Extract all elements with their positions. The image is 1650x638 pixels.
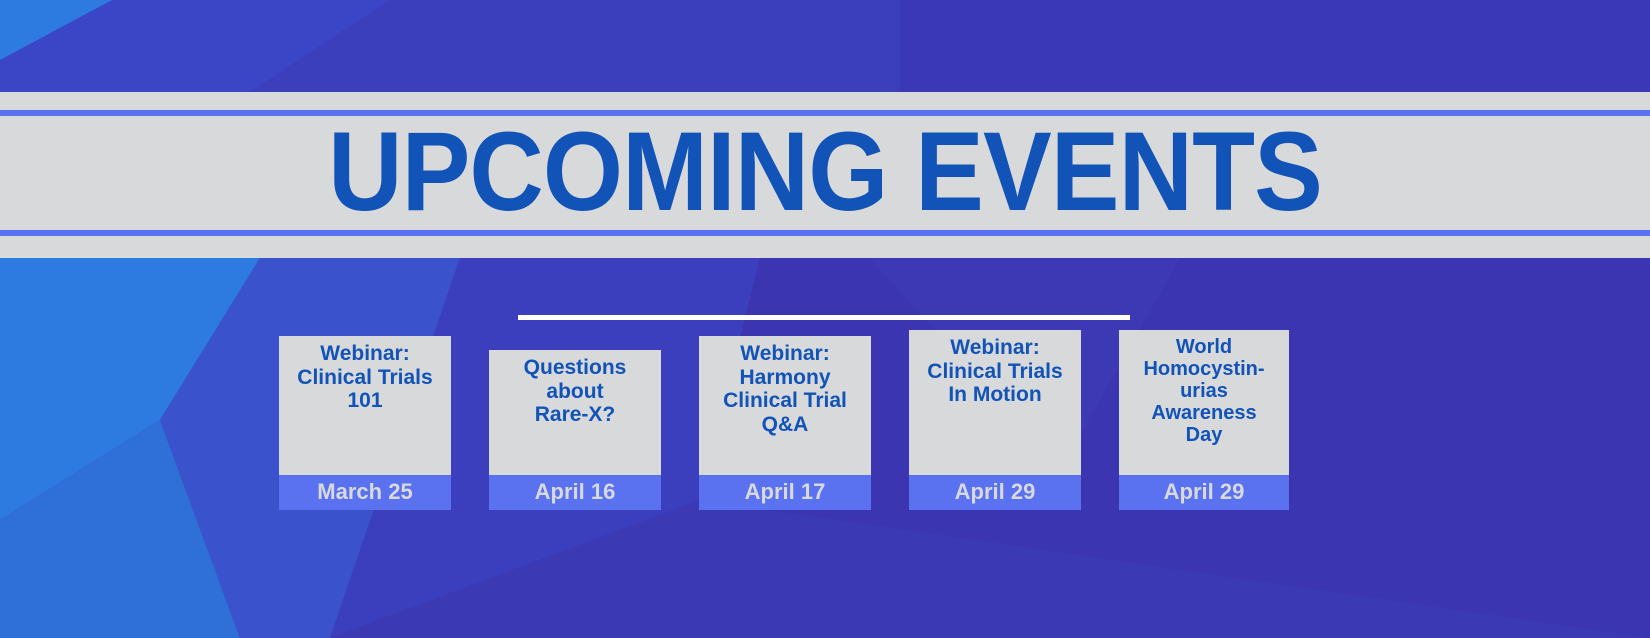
event-date: April 16	[489, 475, 661, 510]
event-card[interactable]: Webinar: Clinical Trials In Motion April…	[909, 330, 1081, 510]
event-title: Questions about Rare-X?	[489, 350, 661, 427]
events-card-row: Webinar: Clinical Trials 101 March 25 Qu…	[279, 330, 1289, 510]
event-card[interactable]: Webinar: Harmony Clinical Trial Q&A Apri…	[699, 336, 871, 510]
banner-bar: UPCOMING EVENTS	[0, 92, 1650, 258]
event-title: Webinar: Harmony Clinical Trial Q&A	[699, 336, 871, 436]
event-title: Webinar: Clinical Trials In Motion	[909, 330, 1081, 407]
event-date: April 29	[1119, 475, 1289, 510]
event-date: March 25	[279, 475, 451, 510]
event-card[interactable]: World Homocystin- urias Awareness Day Ap…	[1119, 330, 1289, 510]
event-date: April 17	[699, 475, 871, 510]
event-card[interactable]: Webinar: Clinical Trials 101 March 25	[279, 336, 451, 510]
event-title: Webinar: Clinical Trials 101	[279, 336, 451, 413]
page-title: UPCOMING EVENTS	[66, 114, 1584, 230]
event-date: April 29	[909, 475, 1081, 510]
event-card[interactable]: Questions about Rare-X? April 16	[489, 350, 661, 510]
event-title: World Homocystin- urias Awareness Day	[1119, 330, 1289, 446]
section-divider	[518, 315, 1130, 320]
events-banner-graphic: UPCOMING EVENTS Webinar: Clinical Trials…	[0, 0, 1650, 638]
